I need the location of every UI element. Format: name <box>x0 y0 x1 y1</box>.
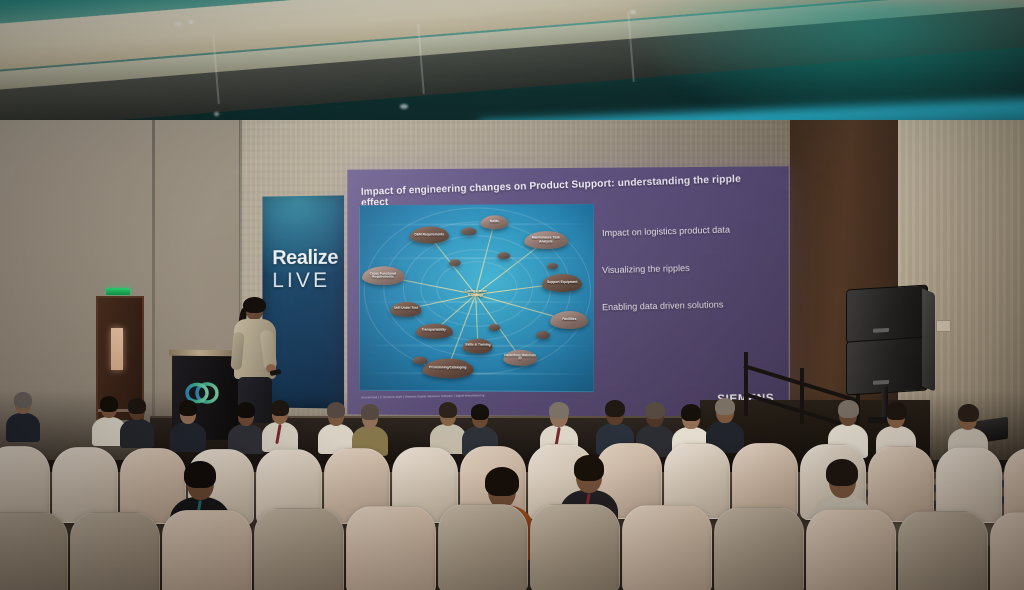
pa-speaker-badge <box>873 328 889 333</box>
exit-sign: EXIT <box>106 288 130 295</box>
banquet-chair <box>990 512 1024 590</box>
door-window <box>111 328 123 370</box>
diagram-node: Support Equipment <box>542 274 582 292</box>
audience-member-hair <box>237 402 256 418</box>
diagram-node-label: Transportability <box>422 329 446 333</box>
audience-member <box>262 402 298 449</box>
banquet-chair <box>0 446 50 522</box>
audience-member-hair <box>485 467 519 496</box>
diagram-node-label: Facilities <box>562 318 576 322</box>
audience-member <box>170 402 206 449</box>
audience-member-hair <box>958 404 979 422</box>
audience-member <box>120 400 154 444</box>
audience-member-hair <box>184 461 216 488</box>
diagram-node: Transportability <box>415 324 452 339</box>
banquet-chair <box>70 512 160 590</box>
diagram-node-label: Unit Under Test <box>391 307 421 311</box>
decorative-stone <box>488 324 500 331</box>
decorative-stone <box>449 259 461 266</box>
diagram-node-label: Support Equipment <box>547 281 577 285</box>
audience-member-hair <box>715 398 735 415</box>
diagram-nodes: O&M RequirementsRAMsMaintenance Task Ana… <box>360 205 593 206</box>
diagram-node-label: O&M Requirements <box>414 233 444 237</box>
diagram-node: Maintenance Task Analysis <box>524 231 568 249</box>
audience-member <box>318 404 354 451</box>
diagram-node: O&M Requirements <box>410 227 449 244</box>
banquet-chair <box>898 511 988 590</box>
ceiling-downlight <box>175 22 181 26</box>
audience-member-hair <box>271 400 290 416</box>
audience-member <box>228 404 264 451</box>
audience-member-hair <box>14 392 32 407</box>
audience-member-hair <box>100 396 118 411</box>
audience-member-hair <box>574 455 604 481</box>
diagram-hub-label: Configuration& Change <box>465 290 487 298</box>
presentation-clicker <box>270 369 282 376</box>
banquet-chair <box>438 504 528 590</box>
diagram-node-label: Hazardous Materials ID <box>504 354 536 361</box>
decorative-stone <box>461 227 477 235</box>
diagram-node: Provisioning/Cataloging <box>422 358 473 378</box>
audience-member-hair <box>826 459 858 486</box>
audience-member <box>6 394 40 438</box>
slide-bullet: Impact on logistics product data <box>602 223 785 238</box>
banquet-chair <box>346 506 436 590</box>
ceiling-downlight <box>630 10 636 14</box>
diagram-node: Facilities <box>550 311 588 329</box>
banquet-chair <box>714 507 804 590</box>
decorative-stone <box>497 252 510 259</box>
audience-member-hair <box>179 400 198 416</box>
audience-member-hair <box>605 400 625 417</box>
diagram-node: Skills & Training <box>463 339 493 354</box>
audience-member <box>706 400 744 449</box>
audience-member-hair <box>327 402 346 418</box>
audience-member-hair <box>645 402 665 419</box>
banner-line-realize: Realize <box>272 248 344 269</box>
banquet-chair <box>254 508 344 590</box>
wall-outlet <box>936 320 951 332</box>
diagram-node: RAMs <box>480 215 508 229</box>
audience-member-hair <box>838 400 859 418</box>
audience-member-torso <box>6 413 40 442</box>
slide-image-ripple-diagram: O&M RequirementsRAMsMaintenance Task Ana… <box>359 204 594 392</box>
banquet-chair <box>530 504 620 590</box>
conference-photo-scene: EXIT Realize LIVE Impact of engineering … <box>0 0 1024 590</box>
diagram-node: Hazardous Materials ID <box>503 349 537 365</box>
slide-bullet-list: Impact on logistics product data Visuali… <box>602 225 785 338</box>
audience-member-hair <box>361 404 380 420</box>
ceiling-downlight <box>188 20 194 24</box>
diagram-node-label: Cross Functional Requirements <box>362 272 403 279</box>
banner-text: Realize LIVE <box>272 248 344 291</box>
audience-member-hair <box>439 402 458 418</box>
banquet-chair <box>622 505 712 590</box>
diagram-spokes <box>360 205 593 206</box>
banquet-chair <box>0 512 68 590</box>
presenter-glasses <box>251 307 263 311</box>
slide-bullet: Visualizing the ripples <box>602 260 785 275</box>
audience-member <box>352 406 388 453</box>
diagram-node-label: Provisioning/Cataloging <box>429 366 466 370</box>
diagram-node-label: Skills & Training <box>464 344 492 348</box>
diagram-node: Cross Functional Requirements <box>362 266 405 285</box>
audience-member <box>430 404 466 451</box>
audience-member-torso <box>120 419 154 448</box>
audience-area <box>0 380 1024 590</box>
audience-member-hair <box>128 398 146 413</box>
slide-bullet: Enabling data driven solutions <box>602 298 785 312</box>
diagram-node-label: RAMs <box>490 220 499 224</box>
audience-member-hair <box>549 402 569 419</box>
pa-speaker-side <box>922 288 935 391</box>
audience-member-hair <box>886 402 907 420</box>
audience-member-torso <box>170 422 206 453</box>
audience-member-hair <box>681 404 701 421</box>
ceiling-downlight <box>214 112 219 116</box>
diagram-node: Unit Under Test <box>390 302 421 317</box>
pa-speaker-upper <box>846 284 928 343</box>
diagram-node-label: Maintenance Task Analysis <box>525 237 567 244</box>
decorative-stone <box>413 357 428 365</box>
ceiling-downlight <box>400 104 408 109</box>
banquet-chair <box>162 510 252 590</box>
banquet-chair <box>806 509 896 590</box>
banner-line-live: LIVE <box>272 270 344 291</box>
audience-member-hair <box>471 404 490 420</box>
